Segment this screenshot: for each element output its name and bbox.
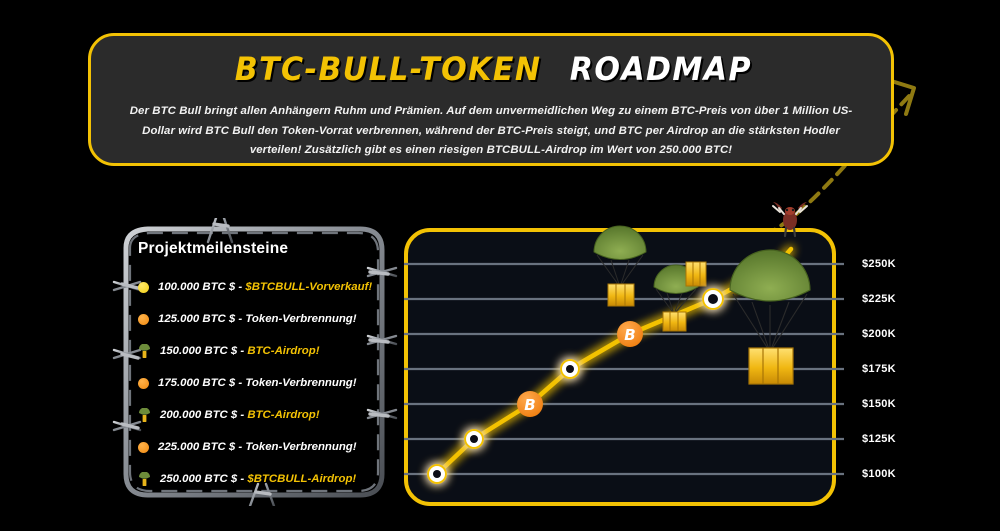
milestone-amount: 175.000 BTC $ - xyxy=(158,377,245,389)
milestone-event: Token-Verbrennung! xyxy=(245,441,356,453)
parachute-icon xyxy=(138,344,151,359)
chart-y-axis: $250K$225K$200K$175K$150K$125K$100K xyxy=(862,228,942,506)
milestone-event: $BTCBULL-Airdrop! xyxy=(247,473,356,485)
milestone-label: 150.000 BTC $ - BTC-Airdrop! xyxy=(160,345,320,357)
milestone-amount: 200.000 BTC $ - xyxy=(160,409,247,421)
y-axis-tick: $225K xyxy=(862,293,896,305)
milestone-label: 225.000 BTC $ - Token-Verbrennung! xyxy=(158,441,357,453)
milestone-label: 175.000 BTC $ - Token-Verbrennung! xyxy=(158,377,357,389)
gold-bar-icon xyxy=(686,262,706,286)
milestone-event: BTC-Airdrop! xyxy=(247,345,319,357)
milestone-label: 125.000 BTC $ - Token-Verbrennung! xyxy=(158,313,357,325)
svg-text:B: B xyxy=(524,396,535,414)
milestone-label: 100.000 BTC $ - $BTCBULL-Vorverkauf! xyxy=(158,281,372,293)
milestone-item[interactable]: 200.000 BTC $ - BTC-Airdrop! xyxy=(138,399,390,431)
y-axis-tick: $100K xyxy=(862,468,896,480)
roadmap-chart: B B xyxy=(404,228,836,506)
airdrop-parachute-medium xyxy=(594,226,646,306)
milestone-item[interactable]: 100.000 BTC $ - $BTCBULL-Vorverkauf! xyxy=(138,271,390,303)
milestones-list: 100.000 BTC $ - $BTCBULL-Vorverkauf!125.… xyxy=(138,271,390,495)
milestone-event: Token-Verbrennung! xyxy=(245,377,356,389)
milestone-label: 250.000 BTC $ - $BTCBULL-Airdrop! xyxy=(160,473,356,485)
milestone-label: 200.000 BTC $ - BTC-Airdrop! xyxy=(160,409,320,421)
bull-mascot-icon xyxy=(768,200,812,238)
yellow-dot-icon xyxy=(138,282,149,293)
milestones-panel: Projektmeilensteine 100.000 BTC $ - $BTC… xyxy=(108,218,400,506)
milestone-amount: 225.000 BTC $ - xyxy=(158,441,245,453)
y-axis-tick: $200K xyxy=(862,328,896,340)
y-axis-tick: $150K xyxy=(862,398,896,410)
milestone-amount: 150.000 BTC $ - xyxy=(160,345,247,357)
milestone-amount: 100.000 BTC $ - xyxy=(158,281,245,293)
milestones-content: Projektmeilensteine 100.000 BTC $ - $BTC… xyxy=(138,240,390,495)
orange-dot-icon xyxy=(138,442,149,453)
milestone-event: BTC-Airdrop! xyxy=(247,409,319,421)
svg-text:B: B xyxy=(624,326,635,344)
milestone-event: $BTCBULL-Vorverkauf! xyxy=(245,281,372,293)
orange-dot-icon xyxy=(138,378,149,389)
milestone-amount: 125.000 BTC $ - xyxy=(158,313,245,325)
orange-dot-icon xyxy=(138,314,149,325)
header-description: Der BTC Bull bringt allen Anhängern Ruhm… xyxy=(125,102,857,161)
milestone-amount: 250.000 BTC $ - xyxy=(160,473,247,485)
airdrop-parachute-large xyxy=(730,250,810,384)
y-axis-tick: $125K xyxy=(862,433,896,445)
milestone-item[interactable]: 125.000 BTC $ - Token-Verbrennung! xyxy=(138,303,390,335)
milestone-item[interactable]: 175.000 BTC $ - Token-Verbrennung! xyxy=(138,367,390,399)
milestones-heading: Projektmeilensteine xyxy=(138,240,390,258)
milestone-event: Token-Verbrennung! xyxy=(245,313,356,325)
header-banner: BTC-BULL-TOKEN ROADMAP Der BTC Bull brin… xyxy=(88,33,894,166)
milestone-item[interactable]: 225.000 BTC $ - Token-Verbrennung! xyxy=(138,431,390,463)
chart-plot-area: B B xyxy=(408,232,840,510)
title-highlight: BTC-BULL-TOKEN xyxy=(234,50,541,88)
milestone-item[interactable]: 250.000 BTC $ - $BTCBULL-Airdrop! xyxy=(138,463,390,495)
y-axis-tick: $250K xyxy=(862,258,896,270)
milestone-item[interactable]: 150.000 BTC $ - BTC-Airdrop! xyxy=(138,335,390,367)
title-plain: ROADMAP xyxy=(570,50,752,88)
parachute-icon xyxy=(138,408,151,423)
y-axis-tick: $175K xyxy=(862,363,896,375)
page-title: BTC-BULL-TOKEN ROADMAP xyxy=(225,50,758,88)
parachute-icon xyxy=(138,472,151,487)
